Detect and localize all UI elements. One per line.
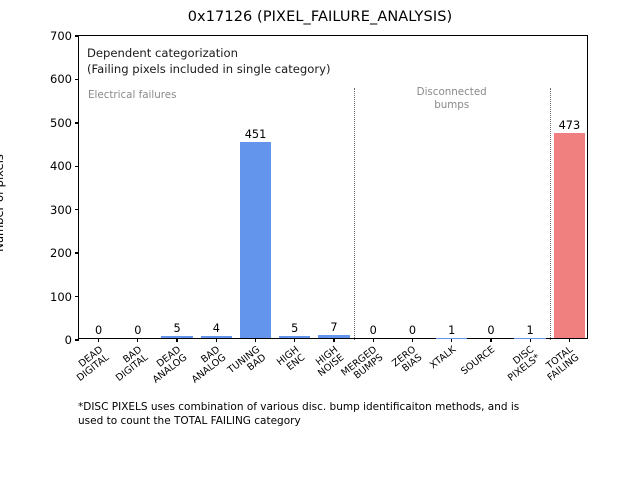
- bar-value-label: 0: [134, 324, 141, 337]
- annotation-electrical-failures: Electrical failures: [88, 89, 177, 101]
- y-axis-tick-mark: [75, 252, 79, 253]
- x-axis-tick-mark: [176, 338, 177, 342]
- y-axis-tick-label: 200: [19, 246, 79, 260]
- x-axis-tick-mark: [333, 338, 334, 342]
- bar-value-label: 473: [559, 119, 581, 132]
- y-axis-tick-mark: [75, 339, 79, 340]
- x-axis-tick-mark: [98, 338, 99, 342]
- x-axis-tick-mark: [490, 338, 491, 342]
- x-axis-tick-mark: [569, 338, 570, 342]
- chart-plot-area: Number of pixels 0100200300400500600700 …: [78, 35, 588, 339]
- page-title: 0x17126 (PIXEL_FAILURE_ANALYSIS): [0, 9, 640, 25]
- y-axis-title: Number of pixels: [0, 51, 6, 355]
- y-axis-tick-mark: [75, 166, 79, 167]
- footnote: *DISC PIXELS uses combination of various…: [78, 400, 598, 428]
- x-axis-tick-mark: [255, 338, 256, 342]
- x-axis-tick-mark: [294, 338, 295, 342]
- bar-value-label: 0: [370, 324, 377, 337]
- footnote-line1: *DISC PIXELS uses combination of various…: [78, 400, 598, 414]
- y-axis-tick-mark: [75, 209, 79, 210]
- bar-value-label: 0: [95, 324, 102, 337]
- bar-bad-analog[interactable]: [201, 336, 232, 338]
- y-axis-tick-mark: [75, 296, 79, 297]
- y-axis-tick-label: 500: [19, 116, 79, 130]
- y-axis-tick-mark: [75, 35, 79, 36]
- y-axis-tick-label: 700: [19, 29, 79, 43]
- y-axis-tick-label: 300: [19, 203, 79, 217]
- x-axis-tick-mark: [137, 338, 138, 342]
- bar-value-label: 1: [448, 324, 455, 337]
- y-axis-tick-label: 400: [19, 159, 79, 173]
- bar-value-label: 0: [409, 324, 416, 337]
- divider-electrical-disconnected: [354, 88, 355, 340]
- y-axis-tick-mark: [75, 79, 79, 80]
- x-axis-tick-mark: [530, 338, 531, 342]
- divider-disconnected-total: [550, 88, 551, 340]
- x-axis-tick-mark: [216, 338, 217, 342]
- x-axis-tick-mark: [412, 338, 413, 342]
- bar-value-label: 5: [173, 322, 180, 335]
- y-axis-tick-label: 600: [19, 72, 79, 86]
- bar-value-label: 5: [291, 322, 298, 335]
- annotation-disconnected-line2: bumps: [377, 99, 527, 112]
- chart-canvas: 0100200300400500600700 DEADDIGITALBADDIG…: [79, 36, 587, 338]
- annotation-dependent-line1: Dependent categorization: [87, 46, 331, 62]
- y-axis-tick-label: 100: [19, 290, 79, 304]
- y-axis-tick-label: 0: [19, 333, 79, 347]
- x-axis-tick-mark: [373, 338, 374, 342]
- annotation-disconnected-line1: Disconnected: [377, 86, 527, 99]
- bar-high-noise[interactable]: [318, 335, 349, 338]
- bar-high-enc[interactable]: [279, 336, 310, 338]
- footnote-line2: used to count the TOTAL FAILING category: [78, 414, 598, 428]
- bar-value-label: 451: [245, 128, 267, 141]
- annotation-disconnected-bumps: Disconnected bumps: [377, 86, 527, 112]
- bar-dead-analog[interactable]: [161, 336, 192, 338]
- annotation-dependent-categorization: Dependent categorization (Failing pixels…: [87, 46, 331, 78]
- y-axis-tick-mark: [75, 122, 79, 123]
- bar-tuning-bad[interactable]: [240, 142, 271, 338]
- annotation-dependent-line2: (Failing pixels included in single categ…: [87, 62, 331, 78]
- bar-value-label: 1: [527, 324, 534, 337]
- bar-total-failing[interactable]: [554, 133, 585, 338]
- bar-value-label: 7: [330, 321, 337, 334]
- bar-value-label: 0: [487, 324, 494, 337]
- x-axis-tick-mark: [451, 338, 452, 342]
- bar-value-label: 4: [213, 322, 220, 335]
